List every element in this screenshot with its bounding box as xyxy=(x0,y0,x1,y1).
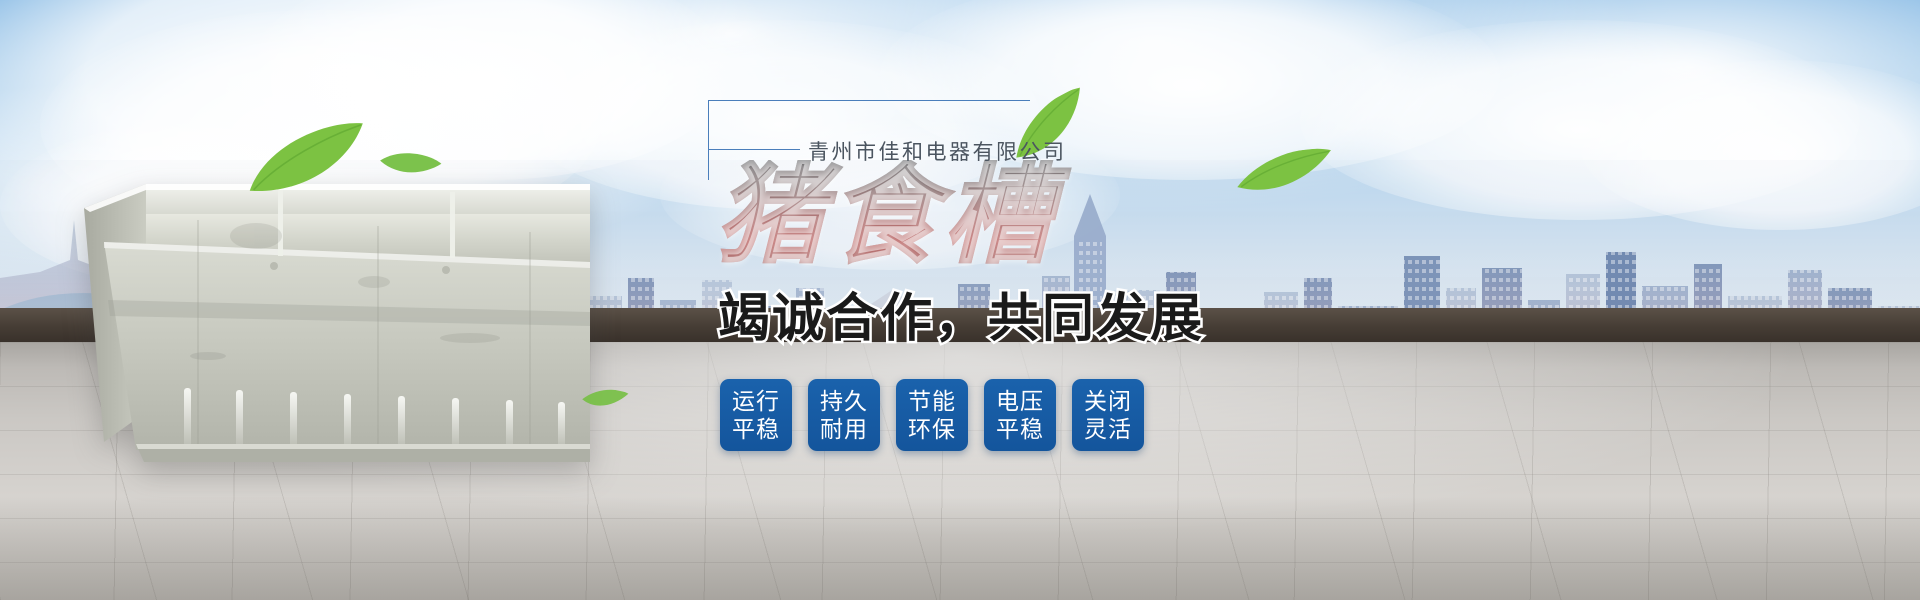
badge-line-1: 关闭 xyxy=(1084,387,1132,415)
badge-line-1: 持久 xyxy=(820,387,868,415)
badge-line-2: 平稳 xyxy=(732,415,780,443)
badge-line-2: 环保 xyxy=(908,415,956,443)
banner-copy: 青州市佳和电器有限公司 猪食槽 竭诚合作，共同发展 运行 平稳 持久 耐用 节能… xyxy=(700,100,1260,451)
badge-line-1: 电压 xyxy=(996,387,1044,415)
feature-badge[interactable]: 节能 环保 xyxy=(896,379,968,451)
product-image-pig-feed-trough xyxy=(78,150,598,480)
feature-badge[interactable]: 运行 平稳 xyxy=(720,379,792,451)
frame-line-bottom xyxy=(708,149,800,150)
badge-line-2: 灵活 xyxy=(1084,415,1132,443)
frame-line-right xyxy=(708,150,709,180)
company-name-frame: 青州市佳和电器有限公司 xyxy=(708,100,1038,162)
frame-line-top xyxy=(708,100,1030,101)
feature-badge[interactable]: 持久 耐用 xyxy=(808,379,880,451)
slogan-text: 竭诚合作，共同发展 xyxy=(718,276,1260,351)
badge-line-1: 节能 xyxy=(908,387,956,415)
promo-banner: 青州市佳和电器有限公司 猪食槽 竭诚合作，共同发展 运行 平稳 持久 耐用 节能… xyxy=(0,0,1920,600)
feature-badge-list: 运行 平稳 持久 耐用 节能 环保 电压 平稳 关闭 灵活 xyxy=(720,379,1260,451)
frame-line-left xyxy=(708,101,709,149)
company-name: 青州市佳和电器有限公司 xyxy=(808,136,1067,166)
badge-line-2: 平稳 xyxy=(996,415,1044,443)
feature-badge[interactable]: 电压 平稳 xyxy=(984,379,1056,451)
badge-line-1: 运行 xyxy=(732,387,780,415)
headline-title: 猪食槽 xyxy=(716,160,1260,270)
feature-badge[interactable]: 关闭 灵活 xyxy=(1072,379,1144,451)
badge-line-2: 耐用 xyxy=(820,415,868,443)
